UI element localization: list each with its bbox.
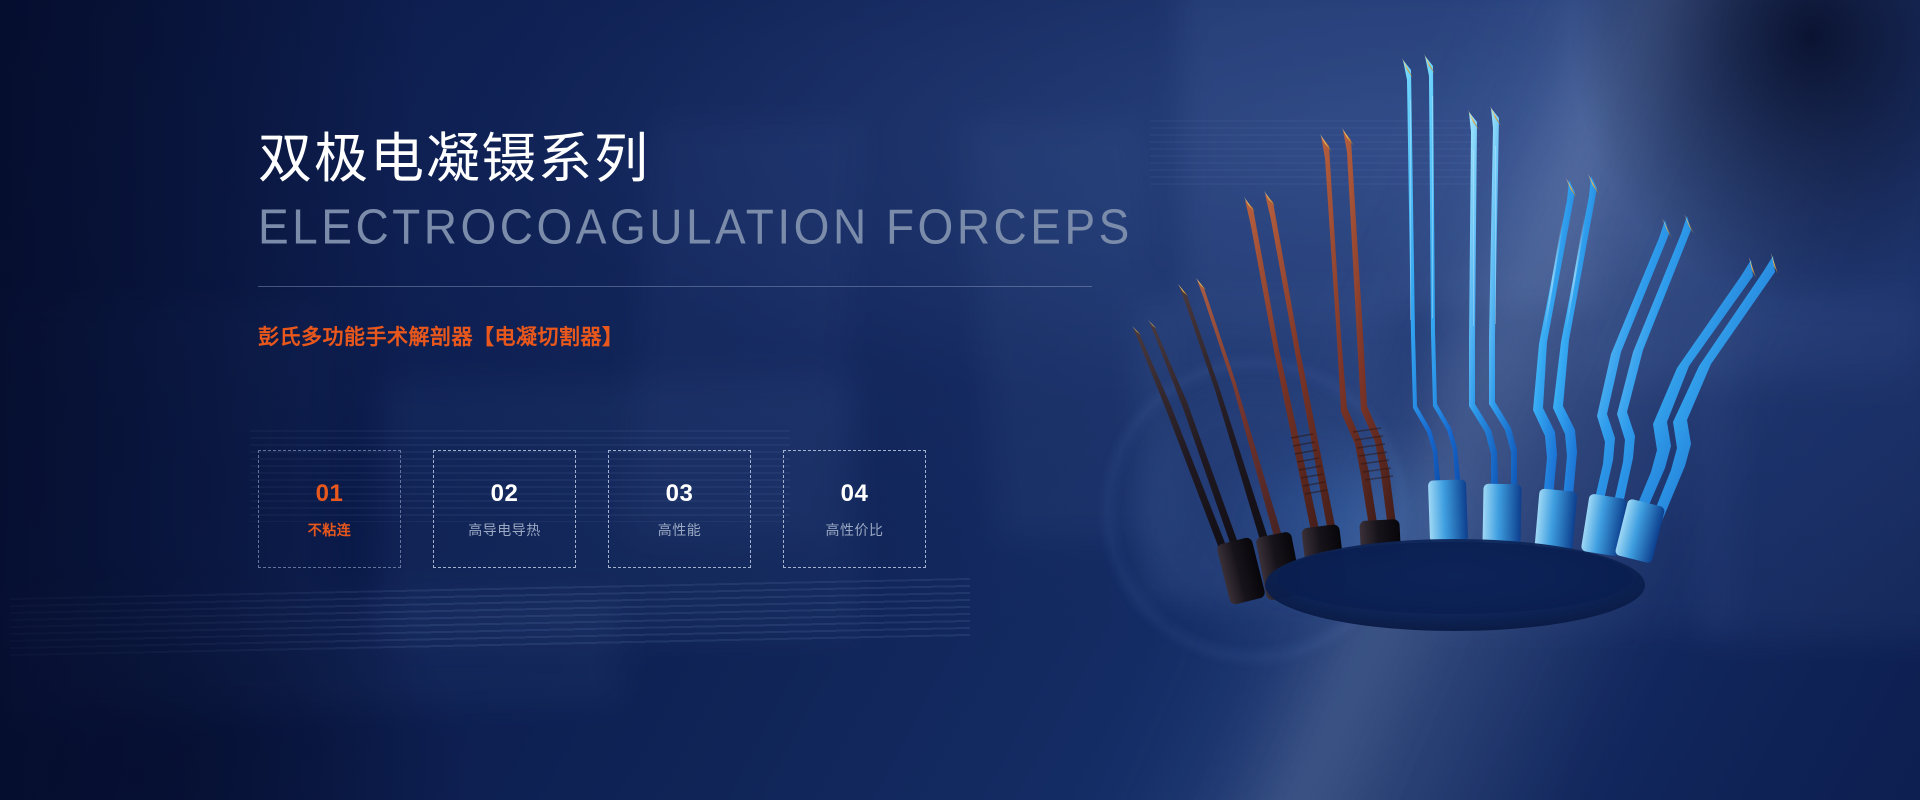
forceps-dark-1 xyxy=(1132,320,1266,605)
forceps-illustration xyxy=(1055,40,1675,620)
feature-item-03[interactable]: 03 高性能 xyxy=(608,450,751,568)
feature-number: 02 xyxy=(491,482,519,506)
divider xyxy=(258,286,1092,287)
forceps-blue-3 xyxy=(1533,174,1599,552)
product-banner: 双极电凝镊系列 ELECTROCOAGULATION FORCEPS 彭氏多功能… xyxy=(0,0,1920,800)
feature-item-02[interactable]: 02 高导电导热 xyxy=(433,450,576,568)
feature-number: 04 xyxy=(841,482,869,506)
feature-label: 高性价比 xyxy=(826,523,884,537)
feature-label: 不粘连 xyxy=(308,523,352,537)
feature-item-01[interactable]: 01 不粘连 xyxy=(258,450,401,568)
feature-label: 高导电导热 xyxy=(468,523,541,537)
feature-list: 01 不粘连 02 高导电导热 03 高性能 04 高性价比 xyxy=(258,450,926,568)
page-subtitle: 彭氏多功能手术解剖器【电凝切割器】 xyxy=(258,321,1098,351)
banner-text-block: 双极电凝镊系列 ELECTROCOAGULATION FORCEPS 彭氏多功能… xyxy=(258,128,1098,351)
page-title-cn: 双极电凝镊系列 xyxy=(258,128,1098,192)
feature-number: 01 xyxy=(316,482,344,506)
forceps-blue-2 xyxy=(1468,106,1522,546)
feature-item-04[interactable]: 04 高性价比 xyxy=(783,450,926,568)
product-image-forceps xyxy=(1055,40,1675,620)
forceps-group-dark xyxy=(1132,128,1403,605)
feature-label: 高性能 xyxy=(658,523,702,537)
feature-number: 03 xyxy=(666,482,694,506)
forceps-blue-1 xyxy=(1402,54,1468,543)
page-title-en: ELECTROCOAGULATION FORCEPS xyxy=(258,200,1098,254)
